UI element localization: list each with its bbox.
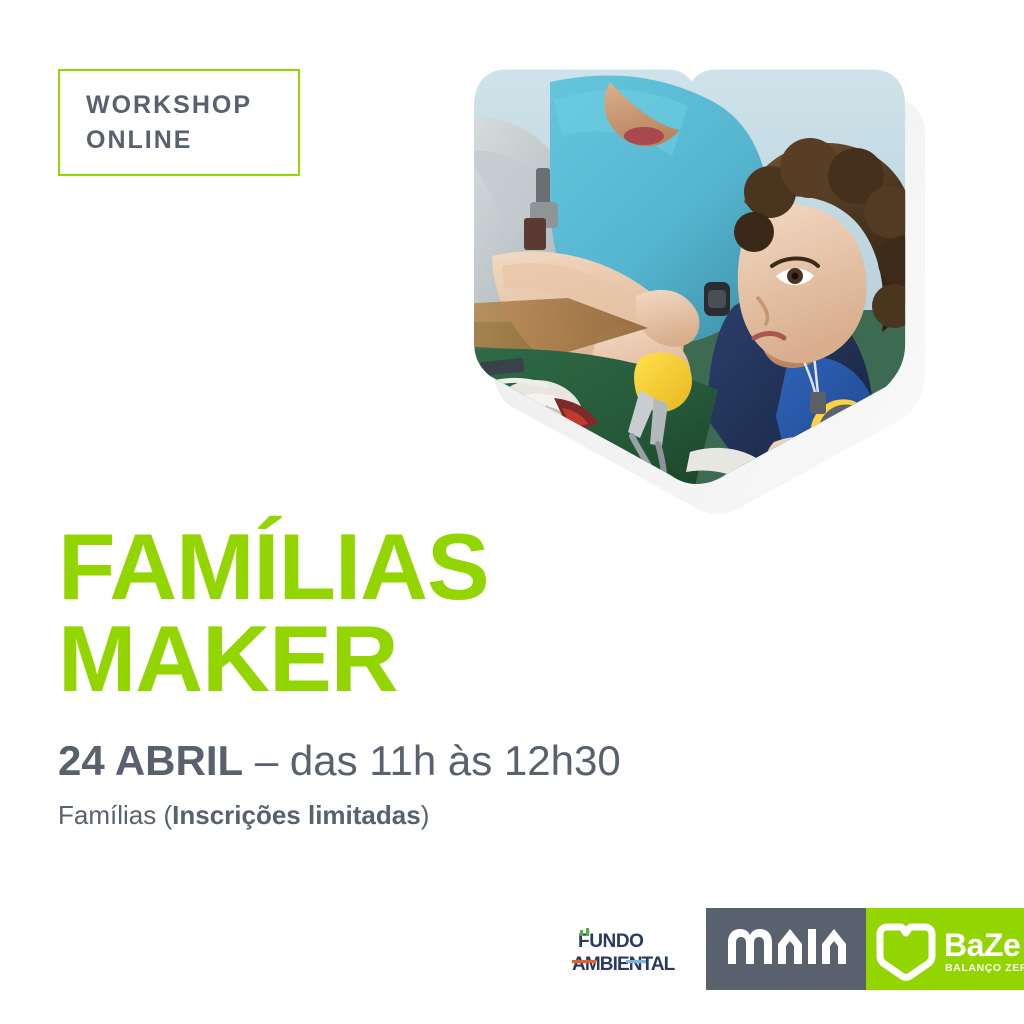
audience-suffix: ): [421, 800, 430, 830]
logo-maia: [706, 908, 866, 990]
event-datetime: 24 ABRIL – das 11h às 12h30: [58, 739, 621, 783]
audience-emphasis: Inscrições limitadas: [172, 800, 421, 830]
page-title: FAMÍLIAS MAKER: [58, 521, 489, 705]
event-date: 24 ABRIL: [58, 737, 243, 784]
workshop-online-badge: WORKSHOP ONLINE: [58, 69, 300, 176]
svg-text:AMBIENTAL: AMBIENTAL: [572, 954, 676, 975]
audience-prefix: Famílias (: [58, 800, 172, 830]
svg-text:BaZe: BaZe: [944, 927, 1020, 963]
svg-text:BALANÇO ZERO: BALANÇO ZERO: [945, 962, 1024, 974]
heart-shield-icon: [880, 927, 932, 978]
badge-line-workshop: WORKSHOP: [86, 88, 298, 123]
event-audience: Famílias (Inscrições limitadas): [58, 800, 429, 831]
hero-image-group: [440, 52, 960, 532]
badge-line-online: ONLINE: [86, 123, 298, 158]
logo-fundo-ambiental: FUNDO AMBIENTAL: [570, 926, 696, 978]
logo-strip: FUNDO AMBIENTAL: [570, 908, 1024, 990]
headline-line-1: FAMÍLIAS: [58, 521, 489, 613]
poster-canvas: WORKSHOP ONLINE: [0, 0, 1024, 1024]
event-time: – das 11h às 12h30: [255, 737, 621, 784]
headline-line-2: MAKER: [58, 613, 489, 705]
logo-baze: BaZe BALANÇO ZERO: [866, 908, 1024, 990]
